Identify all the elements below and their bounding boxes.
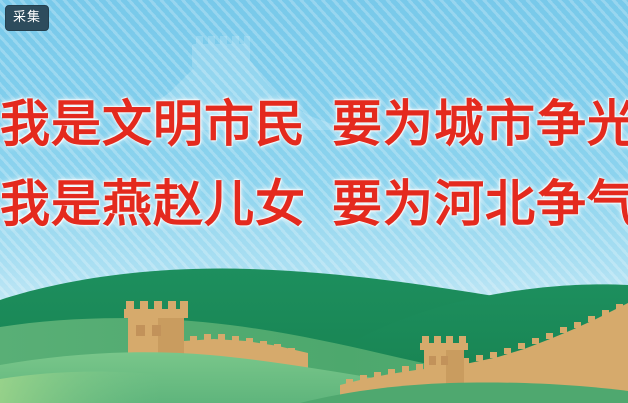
- slogan-line-1: 我是文明市民要为城市争光: [0, 84, 628, 164]
- landscape-illustration: [0, 253, 628, 403]
- slogan-block: 我是文明市民要为城市争光 我是燕赵儿女要为河北争气: [0, 84, 628, 244]
- slogan-line-1-left: 我是文明市民: [0, 84, 306, 164]
- slogan-line-2-right: 要为河北争气: [332, 164, 628, 244]
- slogan-line-1-right: 要为城市争光: [332, 84, 628, 164]
- capture-button[interactable]: 采集: [5, 5, 49, 31]
- banner-screenshot: 我是文明市民要为城市争光 我是燕赵儿女要为河北争气: [0, 0, 628, 403]
- slogan-line-2: 我是燕赵儿女要为河北争气: [0, 164, 628, 244]
- slogan-line-2-left: 我是燕赵儿女: [0, 164, 306, 244]
